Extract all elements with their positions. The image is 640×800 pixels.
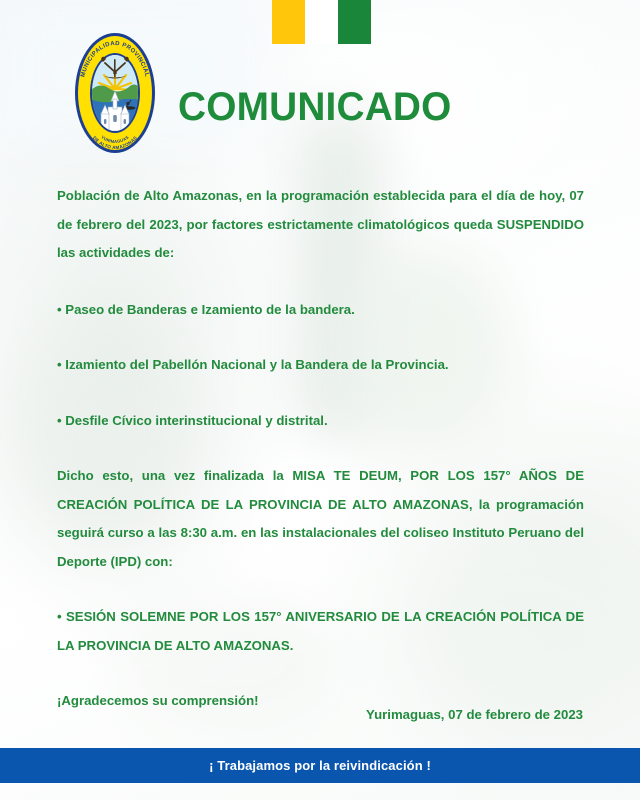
municipality-emblem-icon: MUNICIPALIDAD PROVINCIAL DE ALTO AMAZONA… (70, 29, 160, 157)
page-title: COMUNICADO (178, 86, 452, 128)
comunicado-poster: MUNICIPALIDAD PROVINCIAL DE ALTO AMAZONA… (0, 0, 640, 800)
footer-slogan: ¡ Trabajamos por la reivindicación ! (209, 758, 431, 773)
list-item-bullet-3: • Desfile Cívico interinstitucional y di… (57, 407, 584, 436)
paragraph-intro: Población de Alto Amazonas, en la progra… (57, 182, 584, 268)
flag-band-yellow (272, 0, 305, 44)
list-item-bullet-1: • Paseo de Banderas e Izamiento de la ba… (57, 296, 584, 325)
announcement-body: Población de Alto Amazonas, en la progra… (57, 182, 584, 716)
flag-band-white (305, 0, 338, 44)
list-item-bullet-2: • Izamiento del Pabellón Nacional y la B… (57, 351, 584, 380)
list-item-bullet-4: • SESIÓN SOLEMNE POR LOS 157° ANIVERSARI… (57, 603, 584, 660)
footer-bar: ¡ Trabajamos por la reivindicación ! (0, 748, 640, 783)
flag-band-green (338, 0, 371, 44)
flag-alto-amazonas (272, 0, 371, 44)
paragraph-schedule: Dicho esto, una vez finalizada la MISA T… (57, 462, 584, 576)
date-stamp: Yurimaguas, 07 de febrero de 2023 (366, 707, 583, 722)
